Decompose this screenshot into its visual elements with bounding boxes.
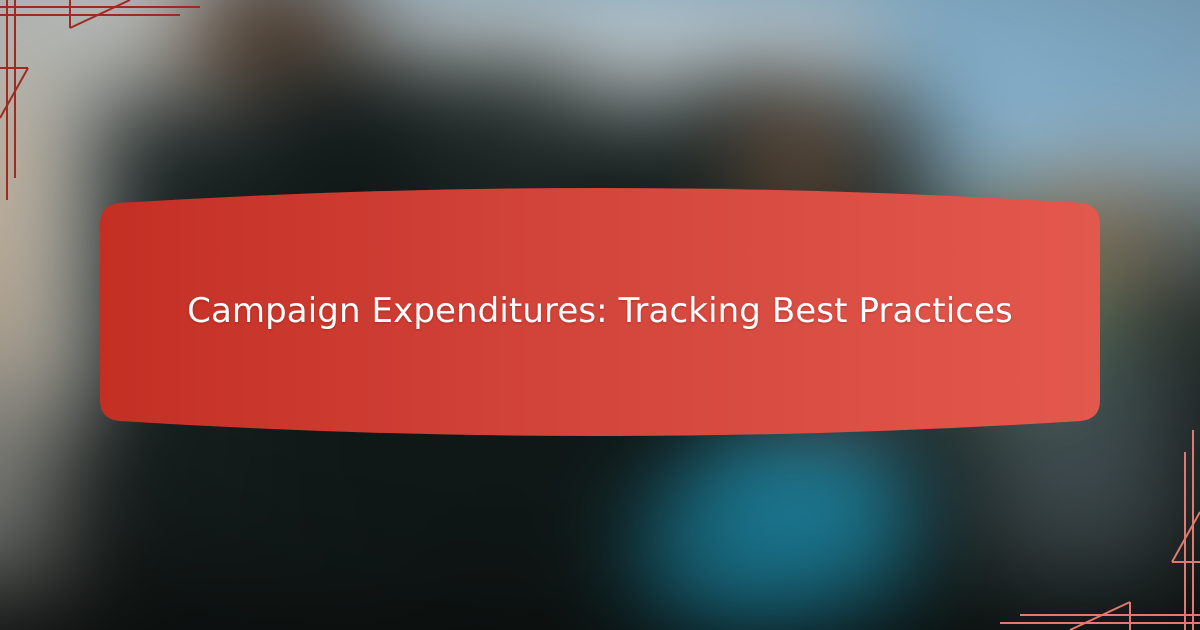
title-card: Campaign Expenditures: Tracking Best Pra… [0,0,1200,630]
title-banner-text-wrap: Campaign Expenditures: Tracking Best Pra… [98,188,1102,436]
page-title: Campaign Expenditures: Tracking Best Pra… [178,284,1022,339]
title-banner: Campaign Expenditures: Tracking Best Pra… [98,188,1102,436]
